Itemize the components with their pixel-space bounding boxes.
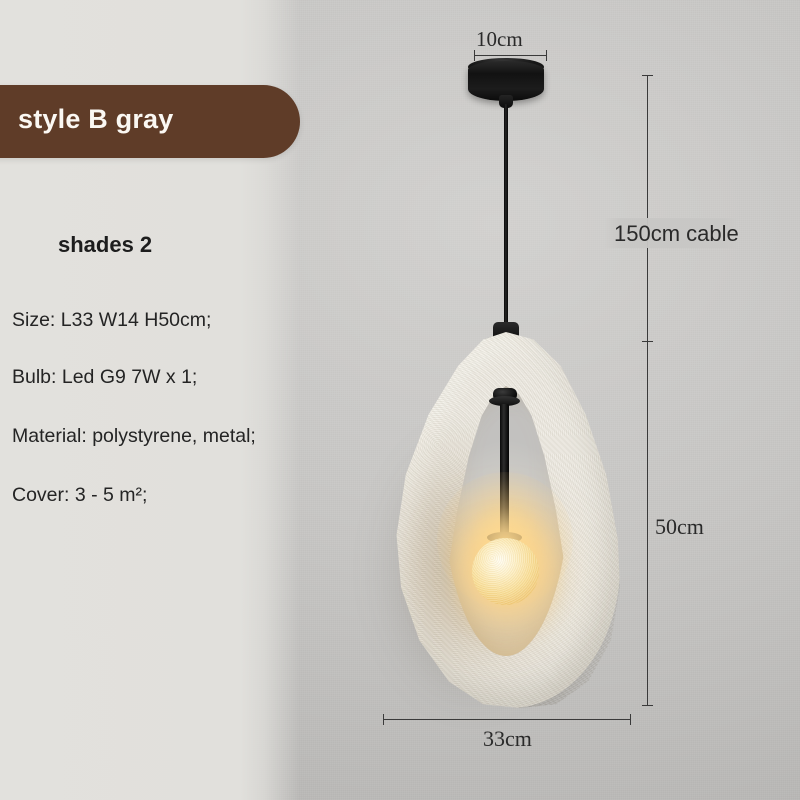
dim-tick-shade-right <box>630 714 631 725</box>
bulb-rod <box>500 404 509 538</box>
product-photo-stage: style B gray shades 2 Size: L33 W14 H50c… <box>0 0 800 800</box>
dim-label-cable-length: 150cm cable <box>610 221 743 247</box>
dim-label-canopy-width: 10cm <box>476 27 523 52</box>
dim-line-canopy-width <box>474 55 546 56</box>
glowing-sphere-bulb <box>472 538 539 605</box>
dim-label-shade-height: 50cm <box>655 514 704 540</box>
dim-label-shade-width: 33cm <box>483 726 532 752</box>
dim-tick-canopy-right <box>546 50 547 61</box>
dim-tick-shade-bottom <box>642 705 653 706</box>
dim-tick-cable-top <box>642 75 653 76</box>
dim-line-shade-height <box>647 341 648 705</box>
dim-tick-canopy-left <box>474 50 475 61</box>
hanging-cord <box>504 104 508 336</box>
dim-line-shade-width <box>383 719 630 720</box>
dim-tick-shade-left <box>383 714 384 725</box>
dim-line-cable-height <box>647 75 648 341</box>
pendant-lamp-icon <box>0 0 800 800</box>
